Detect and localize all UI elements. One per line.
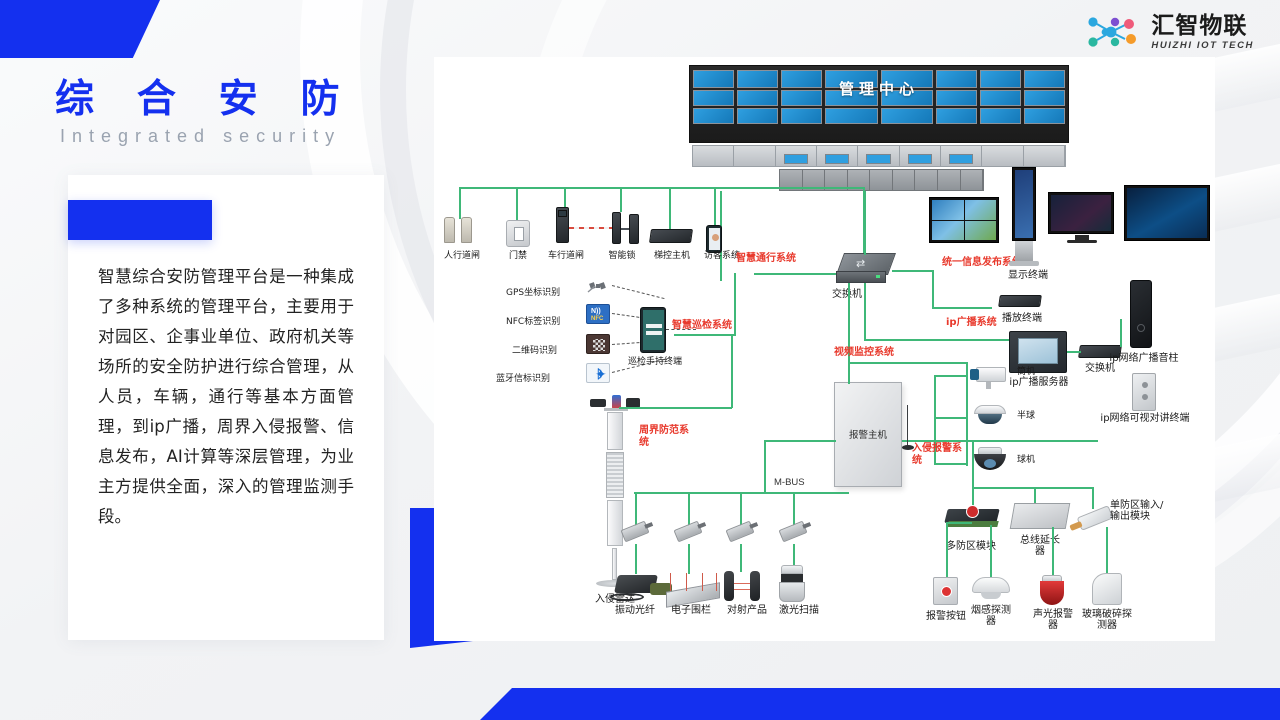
wire-det-to-dev-1 [635,544,637,574]
label-panic-button: 报警按钮 [920,611,972,622]
logo-text-en: HUIZHI IOT TECH [1151,41,1254,51]
device-media-player [998,295,1042,307]
wire-alarmhost-right [902,440,1098,442]
label-alarm-host: 报警主机 [835,427,901,441]
wire-det-to-dev-2 [688,544,690,574]
label-siren-strobe: 声光报警器 [1030,609,1076,631]
label-single-zone-io-module: 单防区输入/输出模块 [1110,500,1172,522]
device-alarm-host: 报警主机 [834,382,902,487]
label-ip-speaker-column: ip网络广播音柱 [1100,353,1188,364]
label-mbus: M-BUS [774,477,805,488]
label-door-access: 门禁 [502,251,534,262]
wire-drop-visitor [714,187,716,229]
wire-video-branch [848,362,968,364]
logo-text-cn: 汇智物联 [1151,14,1254,37]
label-vibration-fiber: 振动光纤 [614,605,656,616]
wire-access-bus [459,187,864,189]
label-vehicle-barrier: 车行道闸 [540,251,592,262]
wire-bswitch-to-speaker [1120,319,1122,347]
label-ip-broadcast-server: ip广播服务器 [1000,377,1078,388]
bottom-blue-bar [480,688,1280,720]
device-led-tv [1048,192,1114,234]
gps-satellite-icon [586,277,610,300]
label-media-player: 播放终端 [994,313,1050,324]
wire-radar-up [731,335,733,408]
patrol-dashed-1 [612,285,665,299]
label-access-system: 智慧通行系统 [736,253,796,265]
label-electric-fence: 电子围栏 [670,605,712,616]
label-smoke-detector: 烟感探测器 [970,605,1012,627]
wire-alarmhost-up [848,362,850,384]
wire-patrol-to-trunk [674,334,736,336]
device-large-lcd-wall [1124,185,1210,241]
device-elevator-controller [649,229,693,243]
label-patrol-gps: GPS坐标识别 [506,285,560,298]
label-broadcast-switch: 交换机 [1076,363,1124,374]
wire-module-extender [1034,487,1036,503]
qr-code-icon [586,334,610,354]
top-left-blue-accent [0,0,160,58]
wire-module-io [1092,487,1094,509]
device-bus-extender [1010,503,1071,529]
device-patrol-handheld [640,307,666,353]
wire-sensor-smoke [990,525,992,577]
control-center-video-wall: 管理中心 [689,65,1069,143]
label-patrol-nfc: NFC标签识别 [506,314,560,327]
wire-module-multizone [972,487,974,507]
wire-modules-up [972,440,974,487]
bluetooth-beacon-icon: ✦ ᛒ [586,363,610,383]
nfc-tag-icon: N)) NFC [586,304,610,324]
label-patrol-qr: 二维码识别 [512,343,557,356]
wire-to-broadcast [864,339,1009,341]
wire-mbus-up [764,440,766,492]
device-door-access [506,220,530,247]
description-body: 智慧综合安防管理平台是一种集成了多种系统的管理平台，主要用于对园区、企事业单位、… [98,262,354,532]
label-ip-broadcast-system: ip广播系统 [946,317,997,329]
wire-sensor-panic [946,522,948,578]
wire-to-display [932,307,992,309]
device-panic-button [933,577,958,605]
label-laser-scanner: 激光扫描 [778,605,820,616]
perimeter-detector-4 [779,521,808,543]
wire-cam-bullet [934,375,968,377]
wire-switch-right-top-v [932,270,934,308]
label-smart-lock: 智能锁 [600,251,644,262]
label-intrusion-alarm-system: 入侵报警系统 [912,443,970,467]
wire-drop-elevator [669,187,671,229]
page-title: 综 合 安 防 [55,68,356,124]
device-video-intercom [1132,373,1156,411]
perimeter-detector-2 [674,521,703,543]
control-center-label: 管理中心 [839,78,919,99]
operator-desk-row [692,145,1066,167]
label-video-system: 视频监控系统 [834,347,894,359]
wire-det-to-dev-3 [740,544,742,572]
page-subtitle: Integrated security [60,126,341,147]
wire-radar-to-trunk [619,407,732,409]
wire-det-to-dev-4 [793,544,795,566]
label-dome-camera: 半球 [1012,411,1040,422]
wire-drop-lock [620,187,622,212]
wire-switch-bcast-v [864,283,866,339]
wire-switch-up [864,191,866,255]
label-patrol-handheld: 巡检手持终端 [620,357,690,368]
label-elevator-controller: 梯控主机 [646,251,698,262]
label-ptz-camera: 球机 [1012,455,1040,466]
device-visitor-terminal [706,225,722,253]
brand-logo: 汇智物联 HUIZHI IOT TECH [1085,12,1254,52]
wire-sensor-glass [1106,527,1108,577]
label-pedestrian-gate: 人行道闸 [436,251,488,262]
label-display-terminal: 显示终端 [1000,270,1056,281]
label-patrol-bluetooth: 蓝牙信标识别 [496,371,550,384]
wire-alarmhost-left [764,440,836,442]
device-intrusion-radar-pole [604,412,626,587]
label-glass-break-detector: 玻璃破碎探测器 [1080,609,1134,631]
label-video-intercom: ip网络可视对讲终端 [1089,413,1201,424]
wire-server-to-bswitch [1067,351,1081,353]
wire-sensor-siren [1052,527,1054,577]
wire-modules-bar [972,487,1094,489]
architecture-diagram: 管理中心 人行道闸 门禁 车行道闸 智能锁 梯控主机 [434,57,1215,641]
wire-cam-dome [934,417,968,419]
label-patrol-system: 智慧巡检系统 [672,320,732,332]
label-perimeter-system: 周界防范系统 [639,425,697,449]
device-video-wall-display [929,197,999,243]
wire-drop-gate [459,187,461,219]
wire-switch-right-top [892,270,934,272]
device-core-switch: ⇄ [834,253,894,287]
wire-drop-door [516,187,518,223]
wire-patrol-up [734,273,736,335]
perimeter-detector-3 [726,521,755,543]
label-bullet-camera: 筒机 [1012,367,1040,378]
wire-sensor-panic-h [946,522,972,524]
wire-drop-barrier [564,187,566,209]
label-multi-zone-module: 多防区模块 [932,541,1010,552]
molecule-network-icon [1085,12,1143,52]
label-beam-detector: 对射产品 [726,605,768,616]
section-tag-badge [68,200,212,240]
label-bus-extender: 总线延长器 [1016,535,1064,557]
